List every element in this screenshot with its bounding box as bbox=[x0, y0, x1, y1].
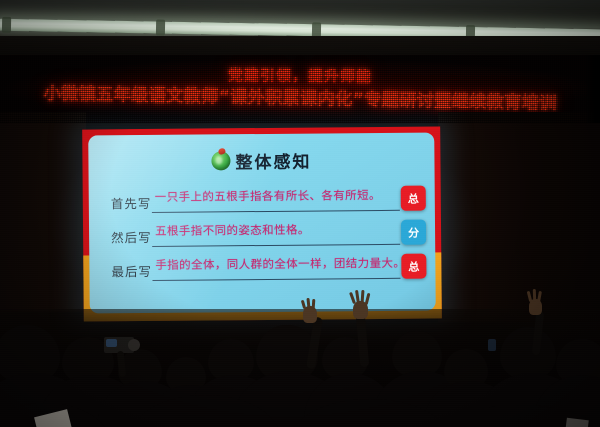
slide-row: 然后写 五根手指不同的姿态和性格。 分 bbox=[89, 218, 435, 255]
presentation-slide: 整体感知 首先写 一只手上的五根手指各有所长、各有所短。 总 然后写 五根手指不… bbox=[88, 132, 436, 313]
row-lead-label: 首先写 bbox=[111, 193, 152, 212]
left-wall bbox=[0, 112, 86, 312]
row-answer-text: 手指的全体，同人群的全体一样，团结力量大。 bbox=[155, 255, 405, 273]
row-lead-label: 最后写 bbox=[111, 261, 152, 280]
camera-lens bbox=[128, 339, 140, 351]
slide-row: 最后写 手指的全体，同人群的全体一样，团结力量大。 总 bbox=[89, 252, 435, 289]
row-lead-label: 然后写 bbox=[111, 227, 152, 246]
slide-row: 首先写 一只手上的五根手指各有所长、各有所短。 总 bbox=[89, 184, 435, 221]
row-badge: 分 bbox=[401, 220, 426, 245]
camera-screen bbox=[106, 339, 117, 347]
slide-title-text: 整体感知 bbox=[235, 148, 311, 174]
right-wall bbox=[438, 112, 600, 322]
row-answer-text: 一只手上的五根手指各有所长、各有所短。 bbox=[155, 187, 381, 205]
phone-screen bbox=[488, 339, 496, 351]
row-answer-text: 五根手指不同的姿态和性格。 bbox=[155, 222, 310, 239]
slide-rows: 首先写 一只手上的五根手指各有所长、各有所短。 总 然后写 五根手指不同的姿态和… bbox=[89, 184, 436, 289]
paper-sheet bbox=[565, 418, 589, 427]
slide-title: 整体感知 bbox=[88, 146, 434, 174]
led-right-shadow bbox=[584, 55, 600, 123]
row-badge: 总 bbox=[401, 254, 426, 279]
photo-scene: 党建引领，提升师能 小微镇五年级语文教师“课外积累课内化”专题研讨暨继续教育培训… bbox=[0, 0, 600, 427]
green-apple-icon bbox=[211, 151, 230, 170]
projection-screen: 整体感知 首先写 一只手上的五根手指各有所长、各有所短。 总 然后写 五根手指不… bbox=[82, 126, 442, 321]
audience bbox=[0, 309, 600, 427]
row-badge: 总 bbox=[401, 186, 426, 211]
